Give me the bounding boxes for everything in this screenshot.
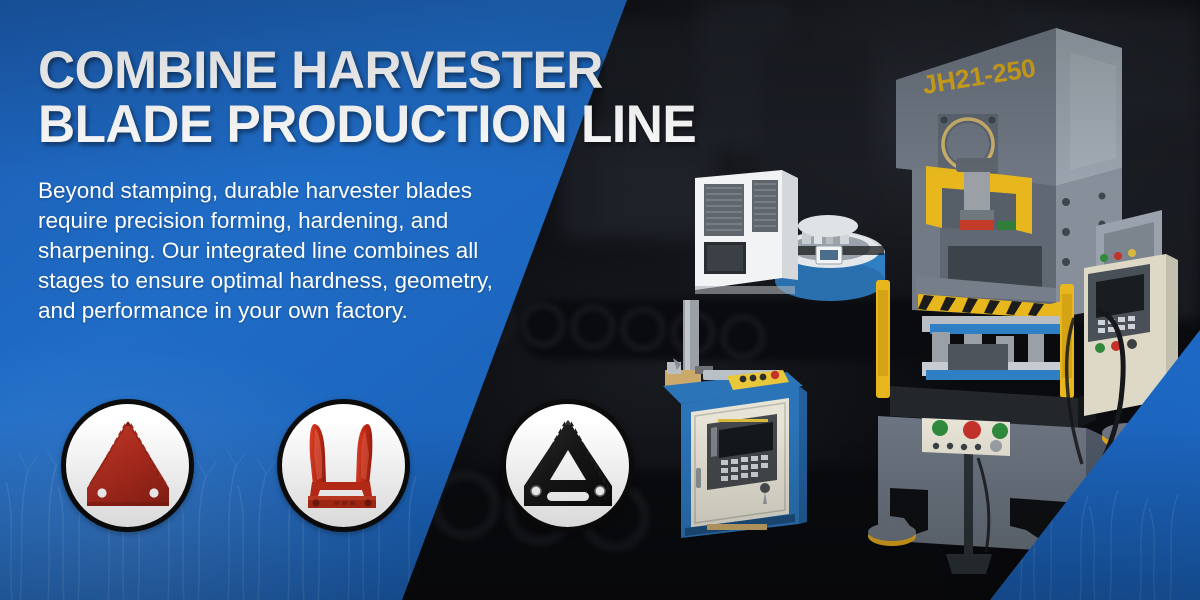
promo-banner: JH21-250 — [0, 0, 1200, 600]
headline-line-1: COMBINE HARVESTER — [38, 44, 814, 98]
double-prong-guard-red-icon — [292, 414, 396, 518]
page-title: COMBINE HARVESTER BLADE PRODUCTION LINE — [38, 44, 814, 152]
machine-cnc-control-cabinet — [655, 300, 855, 540]
product-thumb-serrated-triangular-blade-red[interactable] — [61, 399, 194, 532]
product-thumb-double-prong-guard-red[interactable] — [277, 399, 410, 532]
serrated-triangular-blade-red-icon — [76, 414, 180, 518]
description-text: Beyond stamping, durable harvester blade… — [38, 176, 516, 326]
product-thumb-serrated-triangular-blade-black[interactable] — [501, 399, 634, 532]
serrated-triangular-blade-black-icon — [514, 412, 622, 520]
headline-line-2: BLADE PRODUCTION LINE — [38, 98, 814, 152]
